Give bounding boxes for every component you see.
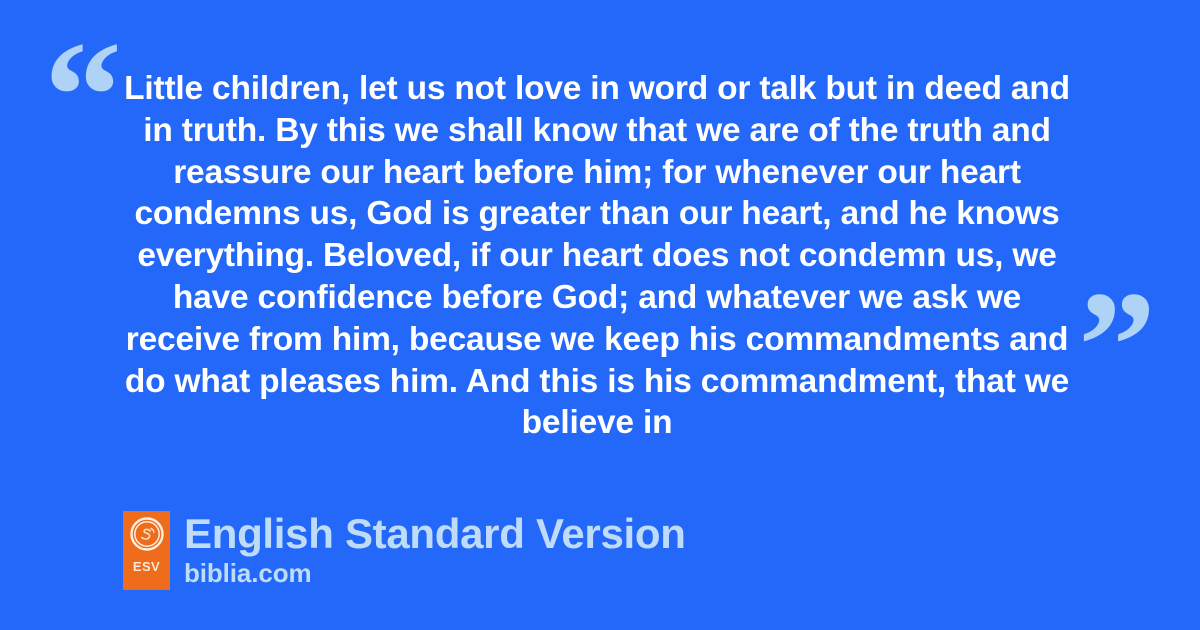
opening-quote-icon: “ xyxy=(44,18,122,174)
esv-seal-icon xyxy=(130,517,164,551)
attribution-text: English Standard Version biblia.com xyxy=(184,511,686,588)
attribution: ESV English Standard Version biblia.com xyxy=(123,511,686,590)
esv-logo-label: ESV xyxy=(133,560,160,573)
esv-logo: ESV xyxy=(123,511,170,590)
bible-version-name: English Standard Version xyxy=(184,511,686,557)
site-name: biblia.com xyxy=(184,558,686,588)
verse-text: Little children, let us not love in word… xyxy=(118,68,1076,444)
quote-block: “ Little children, let us not love in wo… xyxy=(0,0,1200,430)
verse-image-card: “ Little children, let us not love in wo… xyxy=(0,0,1200,630)
closing-quote-icon: ” xyxy=(1078,268,1156,424)
